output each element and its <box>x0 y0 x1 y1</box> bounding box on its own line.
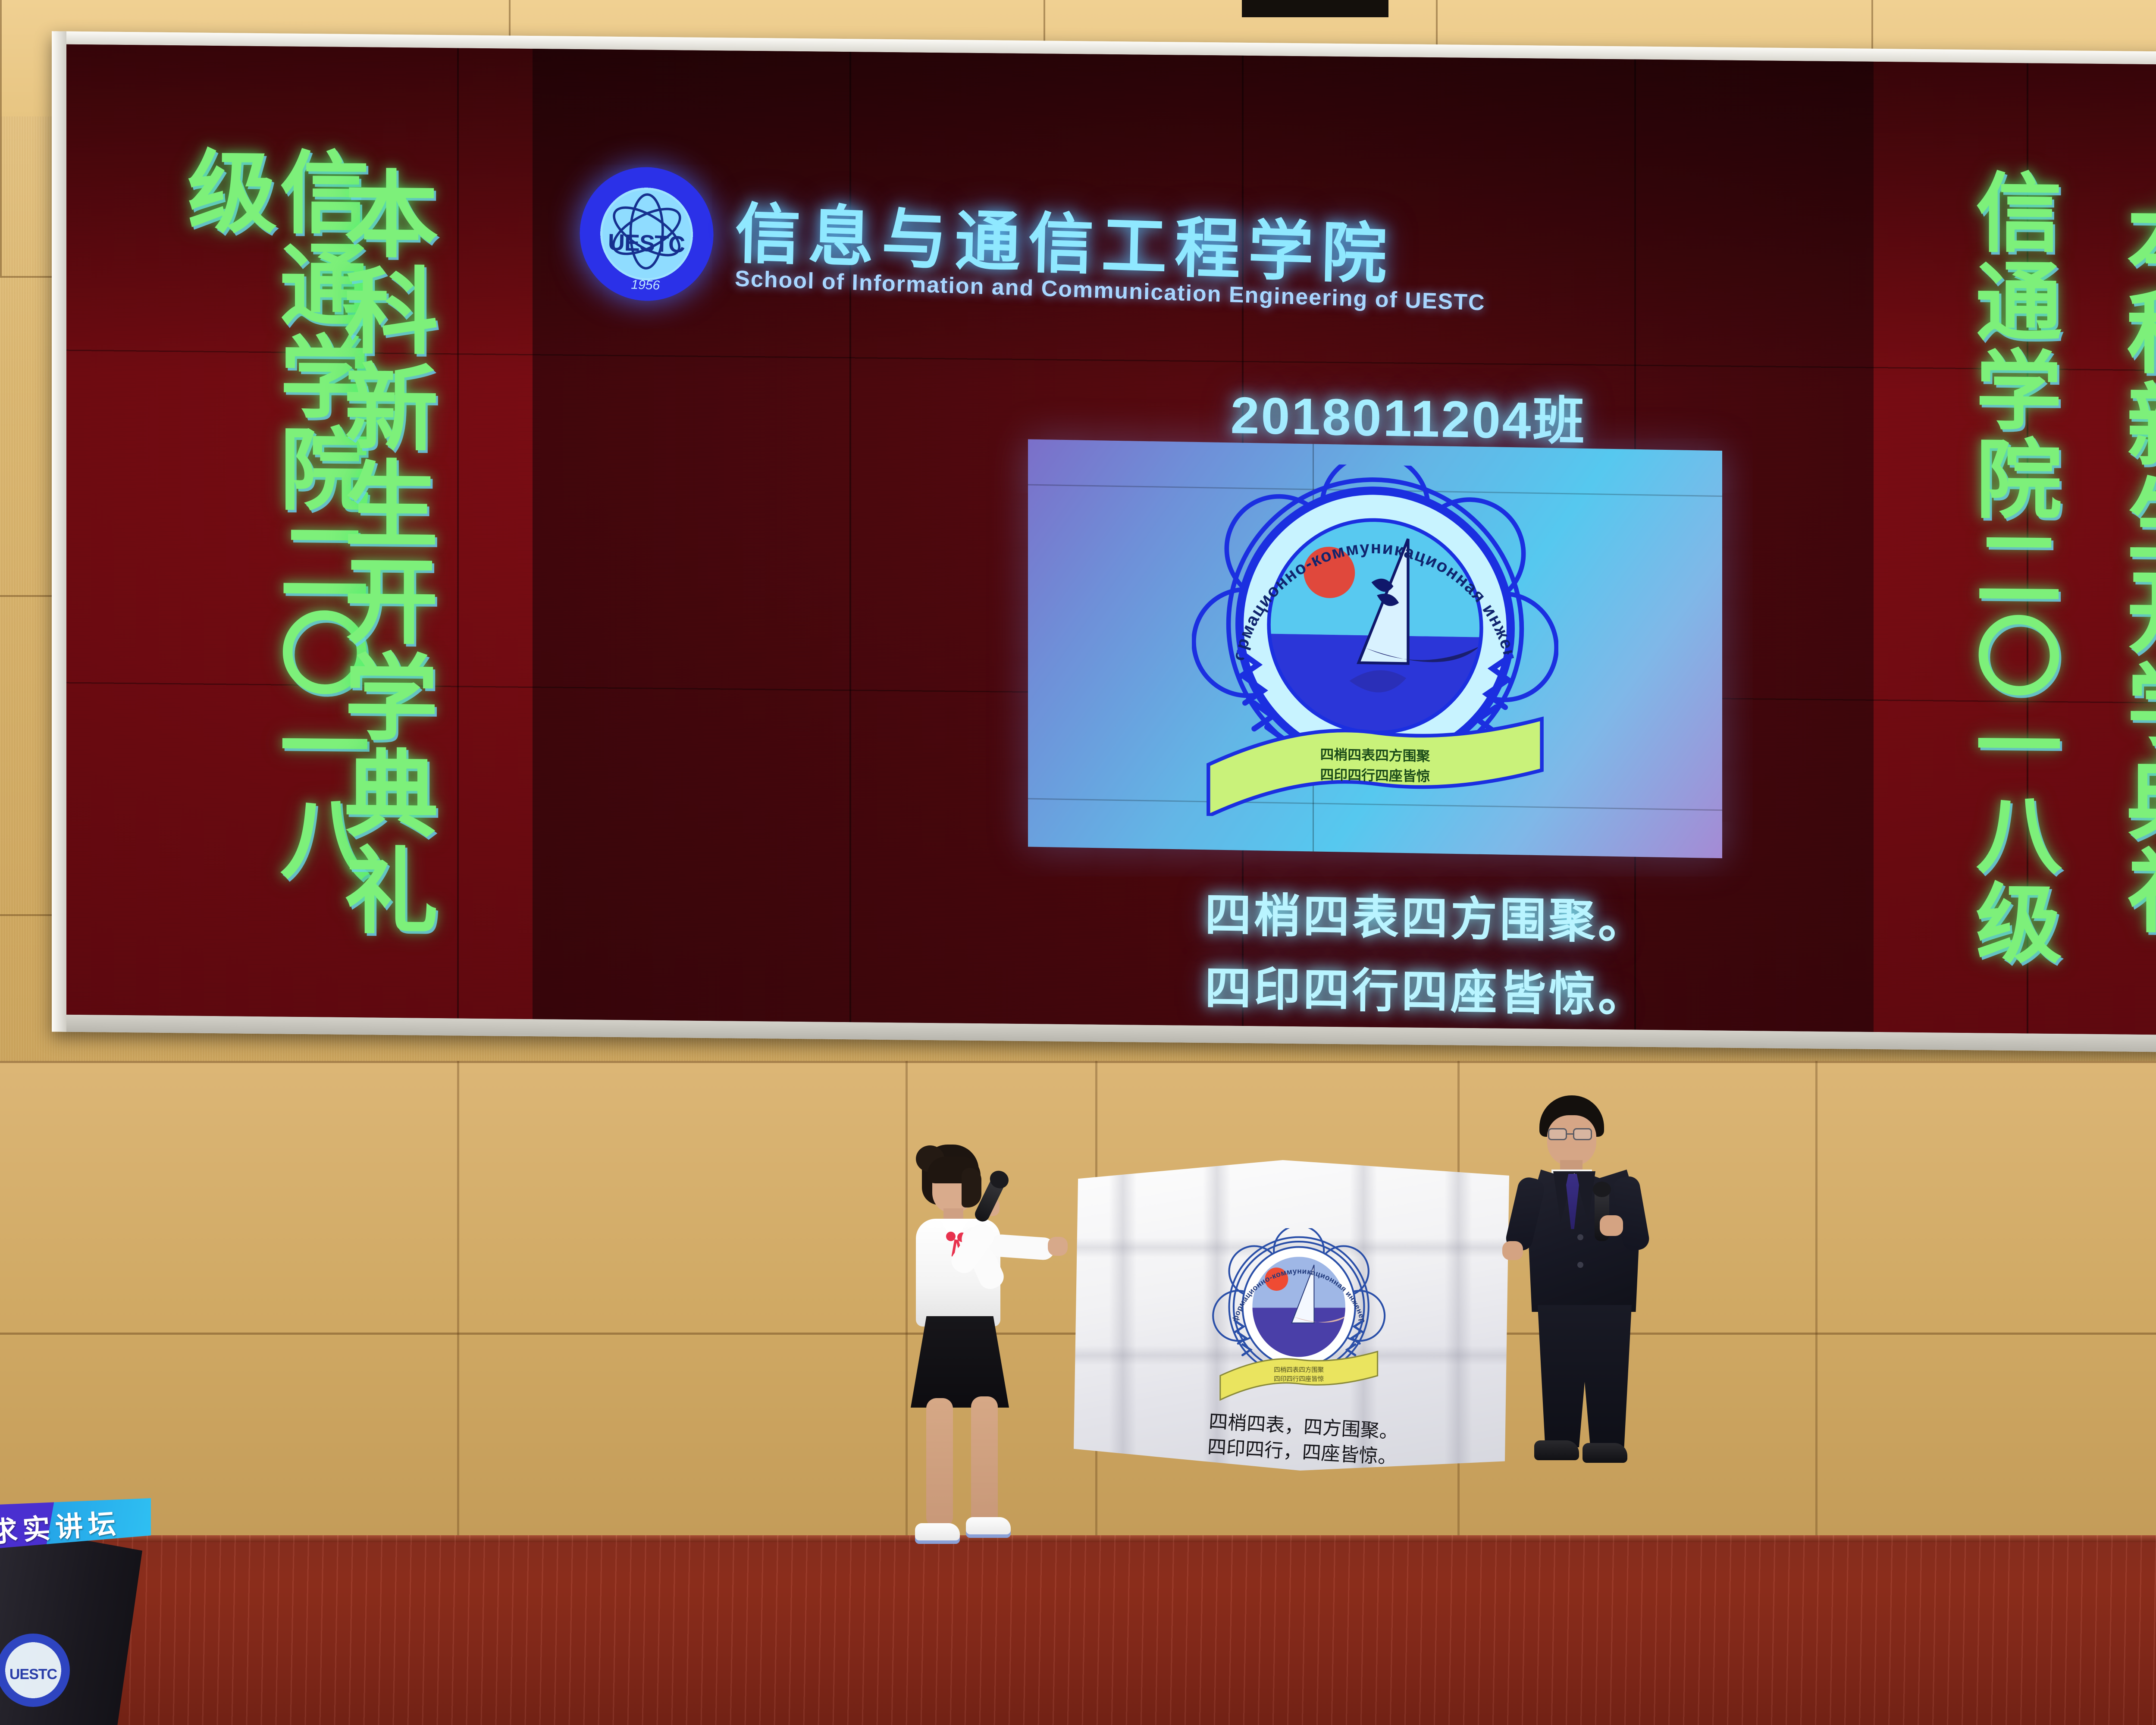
class-flag[interactable]: Информационно-коммуникационная инженерия… <box>1074 1160 1509 1471</box>
slide-header: UESTC 1956 信息与通信工程学院 School of Informati… <box>578 161 1401 342</box>
flag-emblem-icon: Информационно-коммуникационная инженерия… <box>1206 1228 1391 1401</box>
uestc-logo-label: UESTC <box>608 229 685 258</box>
eyeglasses-icon <box>1548 1128 1596 1141</box>
left-sneaker <box>915 1523 960 1544</box>
left-dress-shoe <box>1534 1440 1579 1460</box>
lectern-label: 求实讲坛 <box>0 1502 122 1550</box>
extended-arm <box>989 1234 1055 1261</box>
led-video-wall[interactable]: 信通学院二〇一八级 本科新生开学典礼 信通学院二〇一八级 本科新生开学典礼 <box>52 31 2156 1054</box>
male-host <box>1526 1095 1682 1647</box>
right-hand <box>1048 1237 1068 1256</box>
uestc-logo-icon: UESTC 1956 <box>578 165 715 303</box>
banner-right-outer: 本科新生开学典礼 <box>2117 150 2156 979</box>
black-skirt <box>911 1316 1009 1408</box>
flag-ribbon-line2: 四印四行四座皆惊 <box>1274 1376 1324 1383</box>
lectern[interactable]: 求实讲坛 UESTC <box>0 1483 160 1725</box>
right-leg <box>971 1396 998 1526</box>
wall-seam <box>0 914 56 916</box>
ceremony-photo: 信通学院二〇一八级 本科新生开学典礼 信通学院二〇一八级 本科新生开学典礼 <box>0 0 2156 1725</box>
right-sneaker <box>966 1517 1011 1538</box>
emblem-ribbon-line2: 四印四行四座皆惊 <box>1320 767 1430 784</box>
flag-ribbon-line1: 四梢四表四方围聚 <box>1274 1367 1324 1374</box>
suit-trousers <box>1538 1305 1632 1447</box>
right-hand <box>1600 1215 1623 1236</box>
jacket-button <box>1577 1234 1583 1240</box>
screen-display-area: 信通学院二〇一八级 本科新生开学典礼 信通学院二〇一八级 本科新生开学典礼 <box>66 44 2156 1037</box>
jacket-button <box>1577 1262 1583 1268</box>
class-number-text: 2018011204班 <box>1230 373 1586 455</box>
female-host <box>910 1147 1091 1716</box>
wall-seam <box>0 0 2 276</box>
left-hand <box>1502 1241 1523 1260</box>
emblem-ribbon-line1: 四梢四表四方围聚 <box>1320 746 1431 764</box>
right-dress-shoe <box>1583 1443 1627 1463</box>
slide-slogan-line-1: 四梢四表四方围聚。 <box>1204 877 1647 952</box>
ceiling-vent-icon <box>1242 0 1388 17</box>
slide-emblem-panel: Информационно-коммуникационная инженерия… <box>1028 439 1722 858</box>
hair-side <box>962 1168 981 1207</box>
lectern-uestc-seal-icon: UESTC <box>0 1634 70 1707</box>
screen-bezel-left <box>52 31 66 1032</box>
flag-caption: 四梢四表，四方围聚。 四印四行，四座皆惊。 <box>1206 1409 1399 1471</box>
class-emblem-icon: Информационно-коммуникационная инженерия… <box>1192 462 1558 822</box>
wall-seam <box>0 595 56 597</box>
uestc-logo-year: 1956 <box>631 278 660 293</box>
slide-slogan-line-2: 四印四行四座皆惊。 <box>1204 950 1647 1025</box>
wall-seam <box>0 276 56 278</box>
banner-right-inner: 信通学院二〇一八级 <box>1966 166 2055 969</box>
lectern-seal-label: UESTC <box>9 1666 57 1683</box>
left-leg <box>926 1398 953 1527</box>
banner-left-outer: 本科新生开学典礼 <box>334 129 431 975</box>
